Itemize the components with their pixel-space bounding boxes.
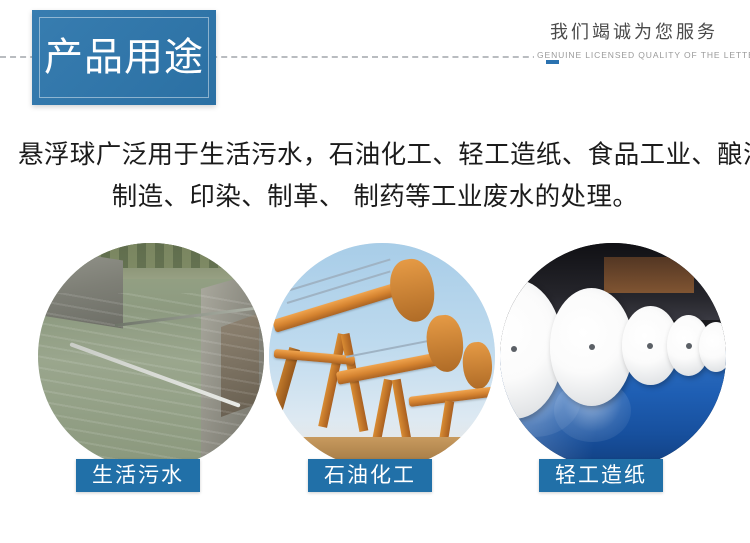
- canal-person-silhouette: [65, 259, 70, 270]
- gallery-caption-papermaking: 轻工造纸: [539, 459, 663, 492]
- slogan-block: 我们竭诚为您服务 GENUINE LICENSED QUALITY OF THE…: [534, 22, 734, 63]
- page-header: 产品用途 我们竭诚为您服务 GENUINE LICENSED QUALITY O…: [0, 0, 750, 118]
- paper-roll-4-core: [686, 343, 692, 349]
- product-usage-description: 悬浮球广泛用于生活污水，石油化工、轻工造纸、食品工业、酿酒、 制造、印染、制革、…: [18, 134, 732, 218]
- paper-roll-1-core: [511, 346, 517, 352]
- circular-photo-paper-rolls: [500, 243, 726, 469]
- section-title-box: 产品用途: [32, 10, 216, 105]
- gallery-caption-sewage: 生活污水: [76, 459, 200, 492]
- description-line-2: 制造、印染、制革、 制药等工业废水的处理。: [18, 176, 732, 218]
- circular-photo-oil-pumpjacks: [269, 243, 495, 469]
- slogan-english: GENUINE LICENSED QUALITY OF THE LETTER: [534, 50, 750, 60]
- gallery-card-petrochemical[interactable]: 石油化工: [269, 243, 495, 469]
- gallery-card-papermaking[interactable]: 轻工造纸: [500, 243, 726, 469]
- circular-photo-sewage-canal: [38, 243, 264, 469]
- gallery-card-sewage[interactable]: 生活污水: [38, 243, 264, 469]
- paper-roll-5: [699, 322, 726, 372]
- paper-roll-2-core: [589, 344, 595, 350]
- description-line-1: 悬浮球广泛用于生活污水，石油化工、轻工造纸、食品工业、酿酒、: [18, 134, 732, 176]
- slogan-chinese: 我们竭诚为您服务: [547, 22, 721, 45]
- paper-roll-3-core: [647, 343, 653, 349]
- page-title: 产品用途: [32, 38, 216, 77]
- paper-roll-2: [550, 288, 634, 406]
- application-gallery: 生活污水 石油化工: [0, 243, 750, 513]
- paper-mill-machinery: [604, 257, 694, 293]
- gallery-caption-petrochemical: 石油化工: [308, 459, 432, 492]
